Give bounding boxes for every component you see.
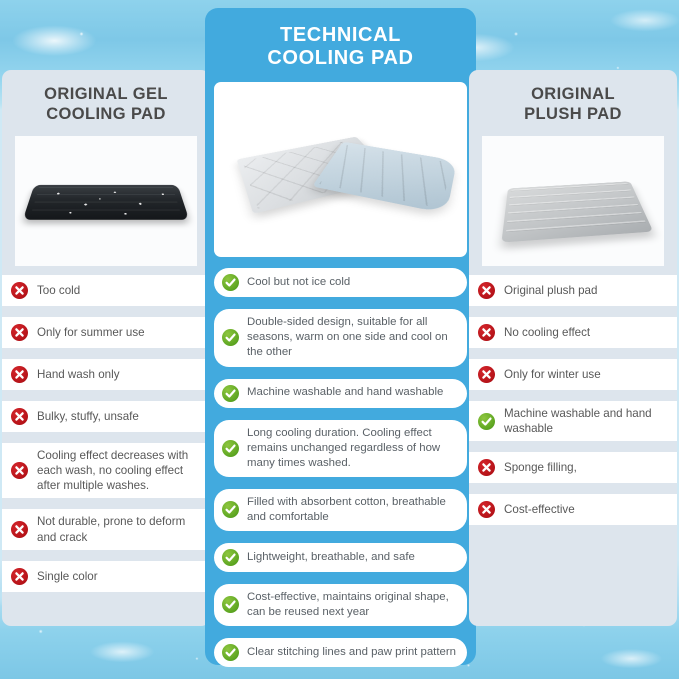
feature-text: Sponge filling,	[504, 460, 577, 475]
check-icon	[478, 413, 495, 430]
feature-list-left: Too coldOnly for summer useHand wash onl…	[2, 275, 210, 591]
comparison-column-technical-cooling: TECHNICAL COOLING PAD Cool but not ice c…	[205, 8, 476, 665]
plush-pad-photo	[482, 136, 664, 266]
gel-pad-illustration	[23, 185, 189, 220]
feature-row: Bulky, stuffy, unsafe	[2, 401, 210, 432]
feature-row: No cooling effect	[469, 317, 677, 348]
feature-row: Only for winter use	[469, 359, 677, 390]
check-icon	[222, 440, 239, 457]
cross-icon	[11, 408, 28, 425]
feature-list-center: Cool but not ice coldDouble-sided design…	[214, 268, 467, 666]
feature-text: Machine washable and hand washable	[247, 385, 443, 400]
feature-row: Cool but not ice cold	[214, 268, 467, 297]
cross-icon	[478, 459, 495, 476]
feature-text: Long cooling duration. Cooling effect re…	[247, 426, 457, 471]
comparison-column-original-gel: ORIGINAL GEL COOLING PAD Too coldOnly fo…	[2, 70, 210, 626]
check-icon	[222, 274, 239, 291]
cross-icon	[478, 324, 495, 341]
feature-text: Cool but not ice cold	[247, 275, 350, 290]
feature-row: Lightweight, breathable, and safe	[214, 543, 467, 572]
plush-pad-illustration	[501, 182, 653, 243]
feature-text: Cooling effect decreases with each wash,…	[37, 448, 202, 493]
feature-row: Machine washable and hand washable	[214, 379, 467, 408]
feature-text: Bulky, stuffy, unsafe	[37, 409, 139, 424]
cross-icon	[11, 366, 28, 383]
feature-text: Only for winter use	[504, 367, 601, 382]
page-title: TECHNICAL COOLING PAD	[214, 8, 467, 82]
feature-row: Long cooling duration. Cooling effect re…	[214, 420, 467, 477]
feature-text: Not durable, prone to deform and crack	[37, 514, 202, 544]
column-title-right: ORIGINAL PLUSH PAD	[469, 70, 677, 134]
column-title-left: ORIGINAL GEL COOLING PAD	[2, 70, 210, 134]
feature-row: Only for summer use	[2, 317, 210, 348]
cooling-pad-folded-face	[312, 142, 457, 214]
feature-text: Cost-effective	[504, 502, 575, 517]
feature-row: Too cold	[2, 275, 210, 306]
feature-text: Lightweight, breathable, and safe	[247, 550, 415, 565]
cooling-pad-illustration	[214, 82, 467, 257]
cross-icon	[11, 462, 28, 479]
cross-icon	[11, 521, 28, 538]
check-icon	[222, 501, 239, 518]
feature-text: Single color	[37, 569, 98, 584]
feature-text: Too cold	[37, 283, 80, 298]
feature-text: Filled with absorbent cotton, breathable…	[247, 495, 457, 525]
check-icon	[222, 549, 239, 566]
feature-text: Only for summer use	[37, 325, 145, 340]
cross-icon	[478, 366, 495, 383]
feature-row: Cost-effective, maintains original shape…	[214, 584, 467, 626]
comparison-column-original-plush: ORIGINAL PLUSH PAD Original plush padNo …	[469, 70, 677, 626]
feature-row: Filled with absorbent cotton, breathable…	[214, 489, 467, 531]
feature-row: Hand wash only	[2, 359, 210, 390]
feature-row: Single color	[2, 561, 210, 592]
cross-icon	[478, 282, 495, 299]
cross-icon	[11, 568, 28, 585]
gel-cooling-pad-photo	[15, 136, 197, 266]
feature-row: Cost-effective	[469, 494, 677, 525]
check-icon	[222, 644, 239, 661]
feature-row: Clear stitching lines and paw print patt…	[214, 638, 467, 667]
feature-row: Original plush pad	[469, 275, 677, 306]
feature-text: Hand wash only	[37, 367, 120, 382]
cross-icon	[478, 501, 495, 518]
feature-text: Double-sided design, suitable for all se…	[247, 315, 457, 360]
feature-text: Original plush pad	[504, 283, 597, 298]
feature-text: Clear stitching lines and paw print patt…	[247, 645, 456, 660]
feature-text: Machine washable and hand washable	[504, 406, 669, 436]
feature-row: Not durable, prone to deform and crack	[2, 509, 210, 549]
check-icon	[222, 385, 239, 402]
cross-icon	[11, 324, 28, 341]
technical-cooling-pad-photo	[214, 82, 467, 257]
cross-icon	[11, 282, 28, 299]
feature-row: Sponge filling,	[469, 452, 677, 483]
feature-text: Cost-effective, maintains original shape…	[247, 590, 457, 620]
feature-row: Double-sided design, suitable for all se…	[214, 309, 467, 366]
feature-list-right: Original plush padNo cooling effectOnly …	[469, 275, 677, 525]
feature-row: Machine washable and hand washable	[469, 401, 677, 441]
check-icon	[222, 596, 239, 613]
feature-row: Cooling effect decreases with each wash,…	[2, 443, 210, 498]
feature-text: No cooling effect	[504, 325, 590, 340]
check-icon	[222, 329, 239, 346]
